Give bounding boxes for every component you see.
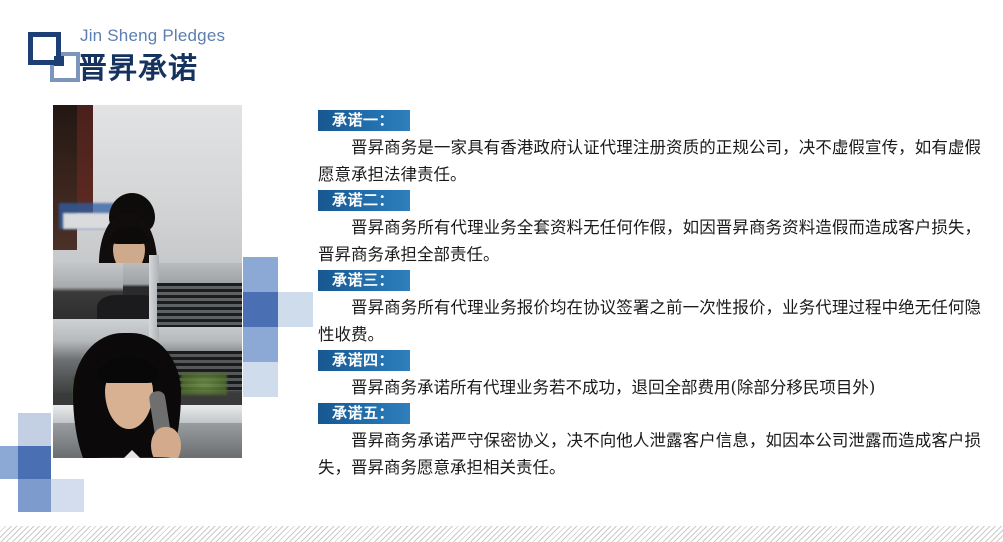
pledge-body-4: 晋昇商务承诺所有代理业务若不成功，退回全部费用(除部分移民项目外) [318, 374, 981, 401]
decorative-square [51, 479, 84, 512]
pledge-badge-2: 承诺二： [318, 190, 410, 211]
decorative-square [243, 292, 278, 327]
decorative-square [243, 257, 278, 292]
pledge-block-3: 承诺三： 晋昇商务所有代理业务报价均在协议签署之前一次性报价，业务代理过程中绝无… [318, 270, 981, 348]
pledge-body-3: 晋昇商务所有代理业务报价均在协议签署之前一次性报价，业务代理过程中绝无任何隐性收… [318, 294, 981, 348]
pledge-badge-3: 承诺三： [318, 270, 410, 291]
office-staff-photo [53, 105, 242, 458]
pledge-badge-1: 承诺一： [318, 110, 410, 131]
pledge-body-2: 晋昇商务所有代理业务全套资料无任何作假，如因晋昇商务资料造假而造成客户损失，晋昇… [318, 214, 981, 268]
pledge-block-1: 承诺一： 晋昇商务是一家具有香港政府认证代理注册资质的正规公司，决不虚假宣传，如… [318, 110, 981, 188]
pledge-block-5: 承诺五： 晋昇商务承诺严守保密协义，决不向他人泄露客户信息，如因本公司泄露而造成… [318, 403, 981, 481]
decorative-square [18, 446, 51, 479]
decorative-square [18, 479, 51, 512]
decorative-square [18, 413, 51, 446]
decorative-square [243, 327, 278, 362]
pledge-badge-5: 承诺五： [318, 403, 410, 424]
page-title-english: Jin Sheng Pledges [80, 26, 225, 46]
pledge-body-5: 晋昇商务承诺严守保密协义，决不向他人泄露客户信息，如因本公司泄露而造成客户损失，… [318, 427, 981, 481]
photo-person-front-hand [151, 427, 181, 458]
pledge-block-4: 承诺四： 晋昇商务承诺所有代理业务若不成功，退回全部费用(除部分移民项目外) [318, 350, 981, 401]
double-square-logo-icon [28, 32, 86, 84]
pledge-body-1: 晋昇商务是一家具有香港政府认证代理注册资质的正规公司，决不虚假宣传，如有虚假愿意… [318, 134, 981, 188]
photo-red-column [77, 105, 93, 213]
header-logo: Jin Sheng Pledges 晋昇承诺 [28, 26, 328, 90]
photo-plant-right [181, 373, 227, 395]
pledge-badge-4: 承诺四： [318, 350, 410, 371]
decorative-square [243, 362, 278, 397]
pledges-content: 承诺一： 晋昇商务是一家具有香港政府认证代理注册资质的正规公司，决不虚假宣传，如… [318, 110, 981, 483]
logo-square-inner-dot [54, 56, 64, 66]
page-title-chinese: 晋昇承诺 [78, 45, 198, 87]
decorative-square [0, 446, 18, 479]
bottom-hatched-strip [0, 526, 1003, 542]
photo-blinds-upper [157, 283, 242, 327]
pledge-block-2: 承诺二： 晋昇商务所有代理业务全套资料无任何作假，如因晋昇商务资料造假而造成客户… [318, 190, 981, 268]
decorative-square [278, 292, 313, 327]
